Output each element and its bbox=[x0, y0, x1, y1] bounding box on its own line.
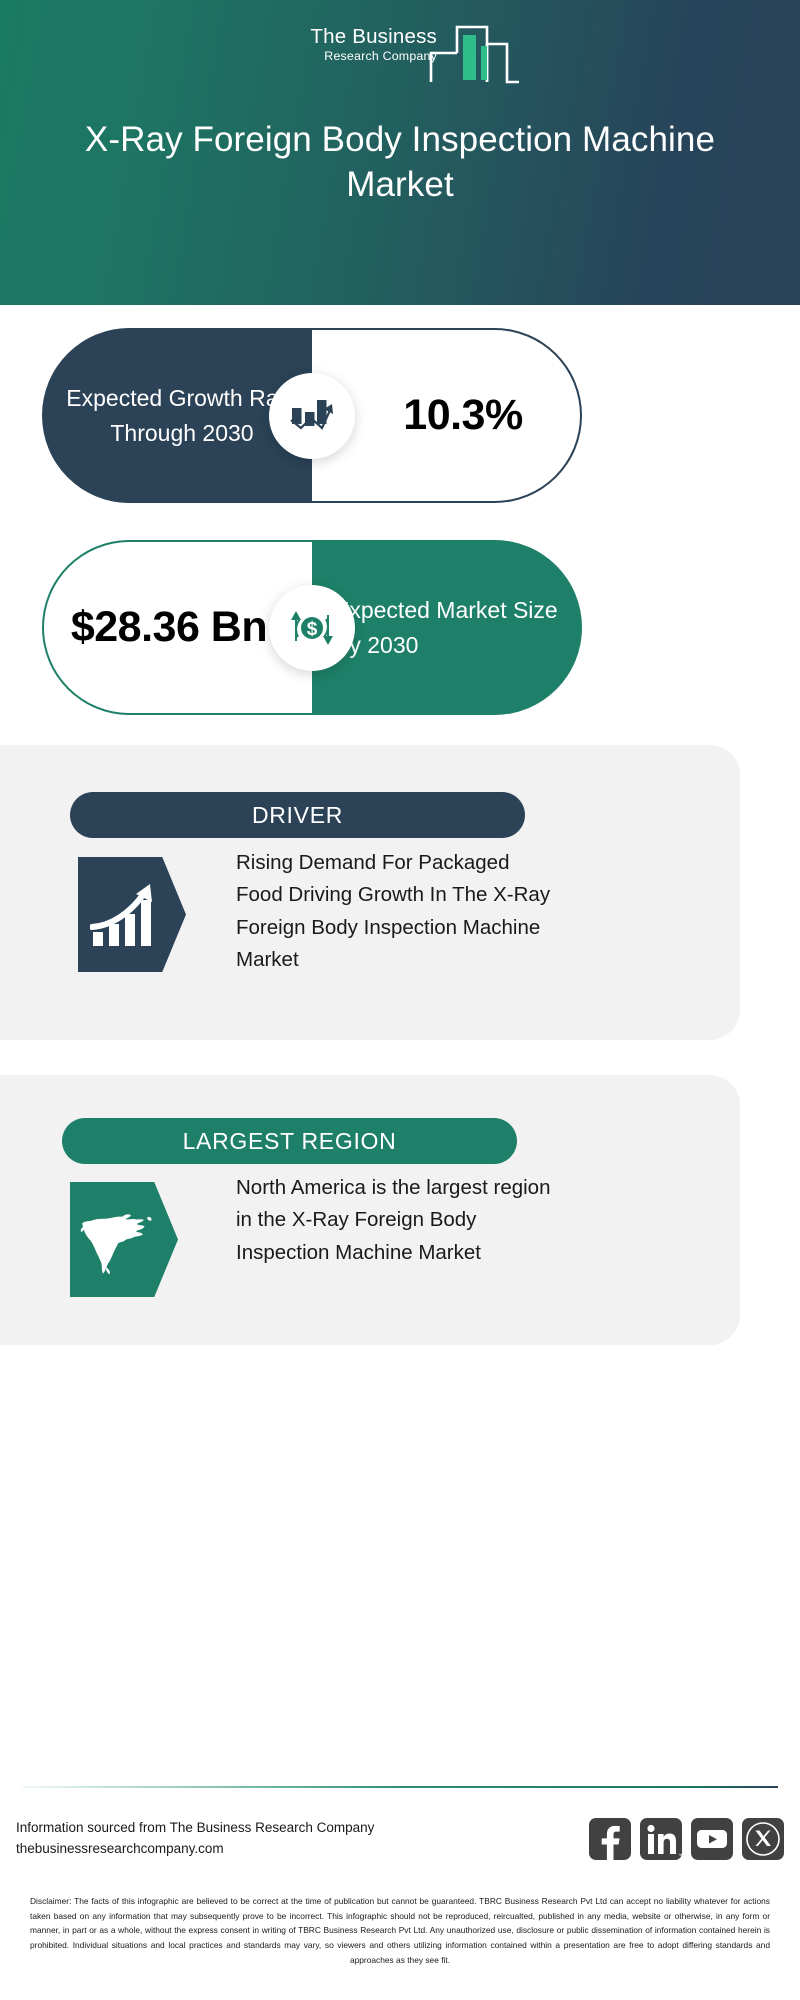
page-title: X-Ray Foreign Body Inspection Machine Ma… bbox=[40, 118, 760, 208]
source-attribution: Information sourced from The Business Re… bbox=[16, 1818, 446, 1860]
stat-growth-value: 10.3% bbox=[369, 391, 522, 440]
footer-divider bbox=[22, 1786, 778, 1788]
stat-card-growth-rate: Expected Growth Rate Through 2030 10.3% bbox=[42, 328, 582, 503]
linkedin-icon[interactable]: ™ bbox=[640, 1818, 682, 1860]
stat-card-market-size: $28.36 Bn Expected Market Size By 2030 $ bbox=[42, 540, 582, 715]
social-links: ™ bbox=[589, 1818, 784, 1860]
north-america-map-icon bbox=[70, 1182, 178, 1297]
driver-body-text: Rising Demand For Packaged Food Driving … bbox=[236, 847, 556, 977]
x-twitter-icon[interactable] bbox=[742, 1818, 784, 1860]
infographic-page: The Business Research Company bbox=[0, 0, 800, 2000]
dollar-cycle-icon: $ bbox=[269, 585, 355, 671]
logo-line-1: The Business bbox=[279, 26, 437, 48]
facebook-icon[interactable] bbox=[589, 1818, 631, 1860]
region-body-text: North America is the largest region in t… bbox=[236, 1172, 556, 1269]
driver-pill: DRIVER bbox=[70, 792, 525, 838]
largest-region-panel: LARGEST REGION North America is the larg… bbox=[0, 1075, 740, 1345]
source-line-1: Information sourced from The Business Re… bbox=[16, 1818, 446, 1839]
logo-line-2: Research Company bbox=[279, 48, 437, 65]
svg-text:™: ™ bbox=[678, 1853, 682, 1858]
growth-chart-arrow-icon bbox=[269, 373, 355, 459]
brand-logo: The Business Research Company bbox=[0, 22, 800, 84]
hero-banner: The Business Research Company bbox=[0, 0, 800, 305]
driver-panel: DRIVER Rising Demand For Packaged Food D… bbox=[0, 745, 740, 1040]
logo-text: The Business Research Company bbox=[279, 26, 437, 64]
rising-bar-chart-icon bbox=[78, 857, 186, 972]
bar-chart-logo-icon bbox=[429, 22, 521, 84]
driver-pill-label: DRIVER bbox=[252, 802, 343, 829]
disclaimer-text: Disclaimer: The facts of this infographi… bbox=[30, 1894, 770, 1967]
stat-market-value: $28.36 Bn bbox=[71, 601, 285, 655]
youtube-icon[interactable] bbox=[691, 1818, 733, 1860]
region-pill: LARGEST REGION bbox=[62, 1118, 517, 1164]
source-line-2[interactable]: thebusinessresearchcompany.com bbox=[16, 1839, 446, 1860]
svg-text:$: $ bbox=[307, 619, 318, 640]
region-pill-label: LARGEST REGION bbox=[183, 1128, 397, 1155]
